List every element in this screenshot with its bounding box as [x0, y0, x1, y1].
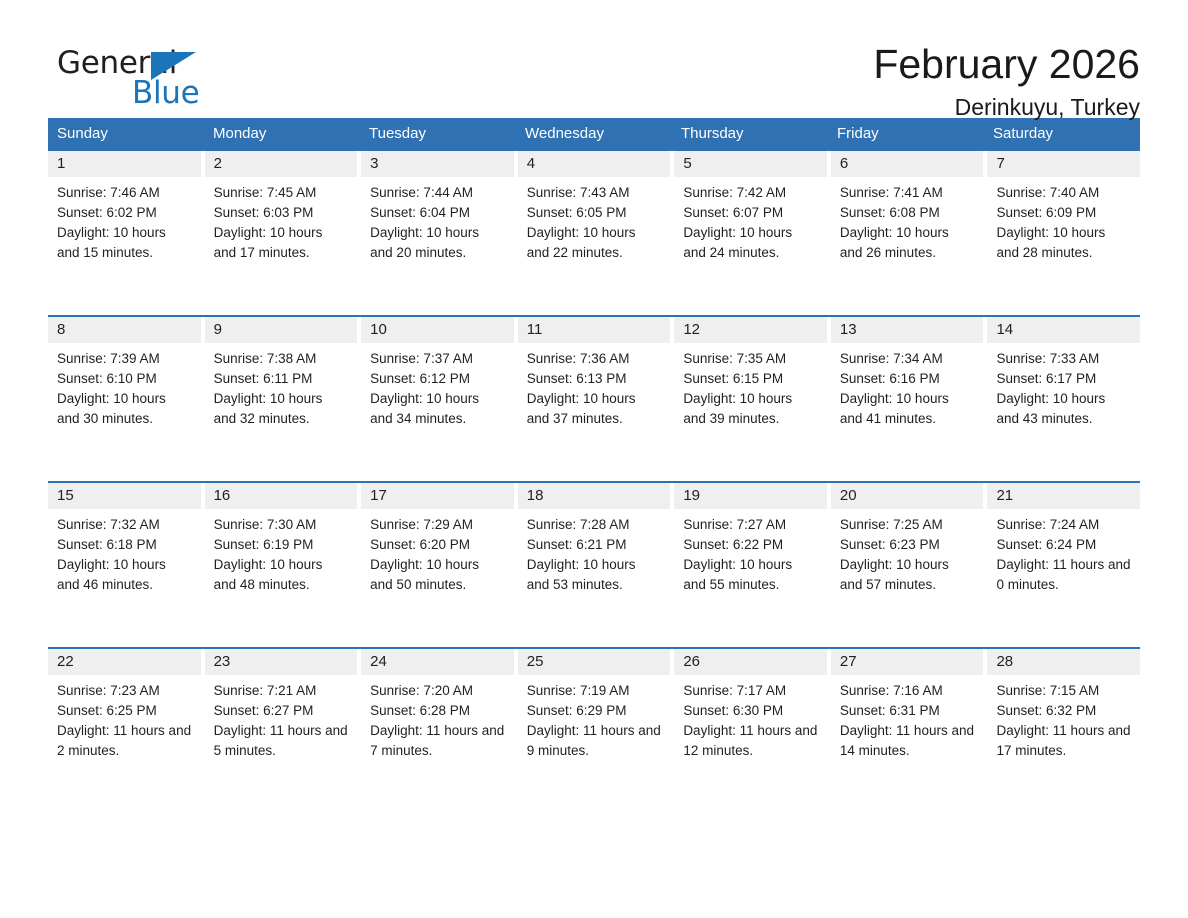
sunset-text: Sunset: 6:20 PM — [370, 535, 505, 555]
daylight-text: Daylight: 10 hours and 22 minutes. — [527, 223, 662, 263]
day-number-band: 9 — [205, 317, 358, 343]
daylight-text: Daylight: 10 hours and 57 minutes. — [840, 555, 975, 595]
day-cell[interactable]: 14 Sunrise: 7:33 AM Sunset: 6:17 PM Dayl… — [987, 317, 1140, 481]
day-info: Sunrise: 7:45 AM Sunset: 6:03 PM Dayligh… — [205, 177, 358, 263]
day-number-band: 24 — [361, 649, 514, 675]
daylight-text: Daylight: 10 hours and 55 minutes. — [683, 555, 818, 595]
day-cell[interactable]: 22 Sunrise: 7:23 AM Sunset: 6:25 PM Dayl… — [48, 649, 205, 813]
day-info: Sunrise: 7:24 AM Sunset: 6:24 PM Dayligh… — [987, 509, 1140, 595]
weekday-header-saturday: Saturday — [984, 118, 1140, 149]
day-cell[interactable]: 28 Sunrise: 7:15 AM Sunset: 6:32 PM Dayl… — [987, 649, 1140, 813]
day-number-band: 28 — [987, 649, 1140, 675]
sunset-text: Sunset: 6:09 PM — [996, 203, 1131, 223]
day-number: 22 — [57, 653, 74, 670]
day-number: 11 — [527, 321, 543, 338]
day-number-band: 2 — [205, 151, 358, 177]
sunset-text: Sunset: 6:15 PM — [683, 369, 818, 389]
day-number: 17 — [370, 487, 387, 504]
day-info: Sunrise: 7:29 AM Sunset: 6:20 PM Dayligh… — [361, 509, 514, 595]
daylight-text: Daylight: 10 hours and 43 minutes. — [996, 389, 1131, 429]
day-info: Sunrise: 7:35 AM Sunset: 6:15 PM Dayligh… — [674, 343, 827, 429]
day-number-band: 3 — [361, 151, 514, 177]
daylight-text: Daylight: 11 hours and 17 minutes. — [996, 721, 1131, 761]
sunrise-text: Sunrise: 7:30 AM — [214, 515, 349, 535]
sunrise-text: Sunrise: 7:40 AM — [996, 183, 1131, 203]
sunrise-text: Sunrise: 7:41 AM — [840, 183, 975, 203]
day-cell[interactable]: 25 Sunrise: 7:19 AM Sunset: 6:29 PM Dayl… — [518, 649, 675, 813]
sunrise-text: Sunrise: 7:17 AM — [683, 681, 818, 701]
day-cell[interactable]: 15 Sunrise: 7:32 AM Sunset: 6:18 PM Dayl… — [48, 483, 205, 647]
day-info: Sunrise: 7:19 AM Sunset: 6:29 PM Dayligh… — [518, 675, 671, 761]
brand-name-blue: Blue — [132, 78, 199, 109]
day-cell[interactable]: 9 Sunrise: 7:38 AM Sunset: 6:11 PM Dayli… — [205, 317, 362, 481]
day-info: Sunrise: 7:43 AM Sunset: 6:05 PM Dayligh… — [518, 177, 671, 263]
day-number: 14 — [996, 321, 1013, 338]
day-number: 3 — [370, 155, 378, 172]
sunrise-text: Sunrise: 7:25 AM — [840, 515, 975, 535]
sunset-text: Sunset: 6:19 PM — [214, 535, 349, 555]
weekday-header-friday: Friday — [828, 118, 984, 149]
day-cell[interactable]: 11 Sunrise: 7:36 AM Sunset: 6:13 PM Dayl… — [518, 317, 675, 481]
daylight-text: Daylight: 10 hours and 24 minutes. — [683, 223, 818, 263]
day-cell[interactable]: 19 Sunrise: 7:27 AM Sunset: 6:22 PM Dayl… — [674, 483, 831, 647]
sunset-text: Sunset: 6:08 PM — [840, 203, 975, 223]
sunrise-text: Sunrise: 7:32 AM — [57, 515, 192, 535]
day-info: Sunrise: 7:16 AM Sunset: 6:31 PM Dayligh… — [831, 675, 984, 761]
day-number: 19 — [683, 487, 700, 504]
sunset-text: Sunset: 6:27 PM — [214, 701, 349, 721]
sunrise-text: Sunrise: 7:33 AM — [996, 349, 1131, 369]
day-number-band: 26 — [674, 649, 827, 675]
day-number: 2 — [214, 155, 222, 172]
sunrise-text: Sunrise: 7:28 AM — [527, 515, 662, 535]
daylight-text: Daylight: 10 hours and 34 minutes. — [370, 389, 505, 429]
day-info: Sunrise: 7:15 AM Sunset: 6:32 PM Dayligh… — [987, 675, 1140, 761]
sunset-text: Sunset: 6:24 PM — [996, 535, 1131, 555]
day-number: 9 — [214, 321, 222, 338]
sunset-text: Sunset: 6:21 PM — [527, 535, 662, 555]
daylight-text: Daylight: 10 hours and 41 minutes. — [840, 389, 975, 429]
daylight-text: Daylight: 10 hours and 53 minutes. — [527, 555, 662, 595]
sunset-text: Sunset: 6:17 PM — [996, 369, 1131, 389]
sunset-text: Sunset: 6:29 PM — [527, 701, 662, 721]
daylight-text: Daylight: 10 hours and 20 minutes. — [370, 223, 505, 263]
sunset-text: Sunset: 6:22 PM — [683, 535, 818, 555]
calendar-page: General Blue February 2026 Derinkuyu, Tu… — [0, 0, 1188, 918]
day-number: 26 — [683, 653, 700, 670]
sunset-text: Sunset: 6:13 PM — [527, 369, 662, 389]
day-number: 13 — [840, 321, 857, 338]
day-cell[interactable]: 2 Sunrise: 7:45 AM Sunset: 6:03 PM Dayli… — [205, 151, 362, 315]
sunrise-text: Sunrise: 7:43 AM — [527, 183, 662, 203]
day-cell[interactable]: 6 Sunrise: 7:41 AM Sunset: 6:08 PM Dayli… — [831, 151, 988, 315]
day-cell[interactable]: 26 Sunrise: 7:17 AM Sunset: 6:30 PM Dayl… — [674, 649, 831, 813]
sunrise-text: Sunrise: 7:35 AM — [683, 349, 818, 369]
day-number: 27 — [840, 653, 857, 670]
day-cell[interactable]: 27 Sunrise: 7:16 AM Sunset: 6:31 PM Dayl… — [831, 649, 988, 813]
day-number: 28 — [996, 653, 1013, 670]
sunrise-text: Sunrise: 7:20 AM — [370, 681, 505, 701]
day-info: Sunrise: 7:40 AM Sunset: 6:09 PM Dayligh… — [987, 177, 1140, 263]
page-title: February 2026 — [873, 42, 1140, 86]
sunrise-text: Sunrise: 7:15 AM — [996, 681, 1131, 701]
day-info: Sunrise: 7:44 AM Sunset: 6:04 PM Dayligh… — [361, 177, 514, 263]
weekday-header-row: Sunday Monday Tuesday Wednesday Thursday… — [48, 118, 1140, 149]
daylight-text: Daylight: 10 hours and 30 minutes. — [57, 389, 192, 429]
weekday-header-monday: Monday — [204, 118, 360, 149]
day-number-band: 22 — [48, 649, 201, 675]
daylight-text: Daylight: 10 hours and 37 minutes. — [527, 389, 662, 429]
daylight-text: Daylight: 10 hours and 50 minutes. — [370, 555, 505, 595]
daylight-text: Daylight: 10 hours and 48 minutes. — [214, 555, 349, 595]
title-block: February 2026 Derinkuyu, Turkey — [873, 42, 1140, 122]
daylight-text: Daylight: 10 hours and 39 minutes. — [683, 389, 818, 429]
day-cell[interactable]: 16 Sunrise: 7:30 AM Sunset: 6:19 PM Dayl… — [205, 483, 362, 647]
day-info: Sunrise: 7:39 AM Sunset: 6:10 PM Dayligh… — [48, 343, 201, 429]
day-cell[interactable]: 24 Sunrise: 7:20 AM Sunset: 6:28 PM Dayl… — [361, 649, 518, 813]
day-cell[interactable]: 4 Sunrise: 7:43 AM Sunset: 6:05 PM Dayli… — [518, 151, 675, 315]
sunset-text: Sunset: 6:16 PM — [840, 369, 975, 389]
day-number: 7 — [996, 155, 1004, 172]
day-number-band: 12 — [674, 317, 827, 343]
daylight-text: Daylight: 11 hours and 9 minutes. — [527, 721, 662, 761]
day-number: 23 — [214, 653, 231, 670]
sunrise-text: Sunrise: 7:37 AM — [370, 349, 505, 369]
day-cell[interactable]: 7 Sunrise: 7:40 AM Sunset: 6:09 PM Dayli… — [987, 151, 1140, 315]
daylight-text: Daylight: 10 hours and 15 minutes. — [57, 223, 192, 263]
sunrise-text: Sunrise: 7:27 AM — [683, 515, 818, 535]
day-info: Sunrise: 7:32 AM Sunset: 6:18 PM Dayligh… — [48, 509, 201, 595]
day-info: Sunrise: 7:23 AM Sunset: 6:25 PM Dayligh… — [48, 675, 201, 761]
day-number: 10 — [370, 321, 387, 338]
sunset-text: Sunset: 6:02 PM — [57, 203, 192, 223]
day-number: 6 — [840, 155, 848, 172]
day-info: Sunrise: 7:37 AM Sunset: 6:12 PM Dayligh… — [361, 343, 514, 429]
day-info: Sunrise: 7:33 AM Sunset: 6:17 PM Dayligh… — [987, 343, 1140, 429]
day-number-band: 27 — [831, 649, 984, 675]
sunrise-text: Sunrise: 7:45 AM — [214, 183, 349, 203]
week-row: 22 Sunrise: 7:23 AM Sunset: 6:25 PM Dayl… — [48, 647, 1140, 813]
daylight-text: Daylight: 11 hours and 12 minutes. — [683, 721, 818, 761]
sunset-text: Sunset: 6:32 PM — [996, 701, 1131, 721]
sunrise-text: Sunrise: 7:29 AM — [370, 515, 505, 535]
day-number-band: 19 — [674, 483, 827, 509]
day-number-band: 16 — [205, 483, 358, 509]
day-number: 12 — [683, 321, 700, 338]
week-row: 8 Sunrise: 7:39 AM Sunset: 6:10 PM Dayli… — [48, 315, 1140, 481]
sunset-text: Sunset: 6:31 PM — [840, 701, 975, 721]
day-number-band: 10 — [361, 317, 514, 343]
day-number-band: 11 — [518, 317, 671, 343]
day-number-band: 17 — [361, 483, 514, 509]
generalblue-logo[interactable]: General Blue — [48, 42, 208, 114]
day-info: Sunrise: 7:36 AM Sunset: 6:13 PM Dayligh… — [518, 343, 671, 429]
daylight-text: Daylight: 11 hours and 5 minutes. — [214, 721, 349, 761]
day-cell[interactable]: 3 Sunrise: 7:44 AM Sunset: 6:04 PM Dayli… — [361, 151, 518, 315]
weekday-header-sunday: Sunday — [48, 118, 204, 149]
weekday-header-wednesday: Wednesday — [516, 118, 672, 149]
day-cell[interactable]: 8 Sunrise: 7:39 AM Sunset: 6:10 PM Dayli… — [48, 317, 205, 481]
sunrise-text: Sunrise: 7:39 AM — [57, 349, 192, 369]
page-header: General Blue February 2026 Derinkuyu, Tu… — [48, 0, 1140, 108]
day-cell[interactable]: 17 Sunrise: 7:29 AM Sunset: 6:20 PM Dayl… — [361, 483, 518, 647]
day-info: Sunrise: 7:21 AM Sunset: 6:27 PM Dayligh… — [205, 675, 358, 761]
day-info: Sunrise: 7:46 AM Sunset: 6:02 PM Dayligh… — [48, 177, 201, 263]
day-cell[interactable]: 20 Sunrise: 7:25 AM Sunset: 6:23 PM Dayl… — [831, 483, 988, 647]
day-number: 18 — [527, 487, 544, 504]
sunset-text: Sunset: 6:11 PM — [214, 369, 349, 389]
daylight-text: Daylight: 10 hours and 26 minutes. — [840, 223, 975, 263]
sunset-text: Sunset: 6:07 PM — [683, 203, 818, 223]
daylight-text: Daylight: 11 hours and 0 minutes. — [996, 555, 1131, 595]
day-info: Sunrise: 7:30 AM Sunset: 6:19 PM Dayligh… — [205, 509, 358, 595]
day-info: Sunrise: 7:20 AM Sunset: 6:28 PM Dayligh… — [361, 675, 514, 761]
daylight-text: Daylight: 10 hours and 32 minutes. — [214, 389, 349, 429]
day-number-band: 14 — [987, 317, 1140, 343]
day-number: 8 — [57, 321, 65, 338]
day-number-band: 1 — [48, 151, 201, 177]
day-cell[interactable]: 5 Sunrise: 7:42 AM Sunset: 6:07 PM Dayli… — [674, 151, 831, 315]
sunrise-text: Sunrise: 7:38 AM — [214, 349, 349, 369]
day-number-band: 18 — [518, 483, 671, 509]
sunrise-text: Sunrise: 7:34 AM — [840, 349, 975, 369]
daylight-text: Daylight: 10 hours and 17 minutes. — [214, 223, 349, 263]
day-info: Sunrise: 7:41 AM Sunset: 6:08 PM Dayligh… — [831, 177, 984, 263]
sunset-text: Sunset: 6:23 PM — [840, 535, 975, 555]
week-row: 1 Sunrise: 7:46 AM Sunset: 6:02 PM Dayli… — [48, 149, 1140, 315]
day-info: Sunrise: 7:28 AM Sunset: 6:21 PM Dayligh… — [518, 509, 671, 595]
sunset-text: Sunset: 6:18 PM — [57, 535, 192, 555]
week-row: 15 Sunrise: 7:32 AM Sunset: 6:18 PM Dayl… — [48, 481, 1140, 647]
day-number: 25 — [527, 653, 544, 670]
sunrise-text: Sunrise: 7:42 AM — [683, 183, 818, 203]
sunrise-text: Sunrise: 7:16 AM — [840, 681, 975, 701]
day-number-band: 13 — [831, 317, 984, 343]
sunrise-text: Sunrise: 7:21 AM — [214, 681, 349, 701]
calendar-grid: Sunday Monday Tuesday Wednesday Thursday… — [48, 118, 1140, 813]
daylight-text: Daylight: 10 hours and 46 minutes. — [57, 555, 192, 595]
sunset-text: Sunset: 6:25 PM — [57, 701, 192, 721]
sunset-text: Sunset: 6:04 PM — [370, 203, 505, 223]
sunset-text: Sunset: 6:03 PM — [214, 203, 349, 223]
day-cell[interactable]: 13 Sunrise: 7:34 AM Sunset: 6:16 PM Dayl… — [831, 317, 988, 481]
day-info: Sunrise: 7:25 AM Sunset: 6:23 PM Dayligh… — [831, 509, 984, 595]
day-number-band: 8 — [48, 317, 201, 343]
weekday-header-thursday: Thursday — [672, 118, 828, 149]
day-info: Sunrise: 7:34 AM Sunset: 6:16 PM Dayligh… — [831, 343, 984, 429]
day-cell[interactable]: 18 Sunrise: 7:28 AM Sunset: 6:21 PM Dayl… — [518, 483, 675, 647]
day-number-band: 25 — [518, 649, 671, 675]
day-number-band: 4 — [518, 151, 671, 177]
day-number-band: 15 — [48, 483, 201, 509]
day-number-band: 23 — [205, 649, 358, 675]
daylight-text: Daylight: 11 hours and 2 minutes. — [57, 721, 192, 761]
daylight-text: Daylight: 10 hours and 28 minutes. — [996, 223, 1131, 263]
sunrise-text: Sunrise: 7:19 AM — [527, 681, 662, 701]
day-number: 1 — [57, 155, 65, 172]
daylight-text: Daylight: 11 hours and 14 minutes. — [840, 721, 975, 761]
day-number-band: 6 — [831, 151, 984, 177]
day-number-band: 5 — [674, 151, 827, 177]
day-cell[interactable]: 12 Sunrise: 7:35 AM Sunset: 6:15 PM Dayl… — [674, 317, 831, 481]
day-number: 16 — [214, 487, 231, 504]
weekday-header-tuesday: Tuesday — [360, 118, 516, 149]
day-number: 20 — [840, 487, 857, 504]
sunset-text: Sunset: 6:28 PM — [370, 701, 505, 721]
day-cell[interactable]: 1 Sunrise: 7:46 AM Sunset: 6:02 PM Dayli… — [48, 151, 205, 315]
sunset-text: Sunset: 6:05 PM — [527, 203, 662, 223]
sunrise-text: Sunrise: 7:46 AM — [57, 183, 192, 203]
day-number-band: 20 — [831, 483, 984, 509]
daylight-text: Daylight: 11 hours and 7 minutes. — [370, 721, 505, 761]
day-cell[interactable]: 23 Sunrise: 7:21 AM Sunset: 6:27 PM Dayl… — [205, 649, 362, 813]
day-number: 24 — [370, 653, 387, 670]
day-info: Sunrise: 7:27 AM Sunset: 6:22 PM Dayligh… — [674, 509, 827, 595]
day-number-band: 21 — [987, 483, 1140, 509]
day-number: 5 — [683, 155, 691, 172]
sunset-text: Sunset: 6:10 PM — [57, 369, 192, 389]
day-number: 21 — [996, 487, 1013, 504]
sunrise-text: Sunrise: 7:44 AM — [370, 183, 505, 203]
sunrise-text: Sunrise: 7:23 AM — [57, 681, 192, 701]
day-info: Sunrise: 7:38 AM Sunset: 6:11 PM Dayligh… — [205, 343, 358, 429]
day-number-band: 7 — [987, 151, 1140, 177]
day-info: Sunrise: 7:17 AM Sunset: 6:30 PM Dayligh… — [674, 675, 827, 761]
day-number: 4 — [527, 155, 535, 172]
sunset-text: Sunset: 6:12 PM — [370, 369, 505, 389]
sunrise-text: Sunrise: 7:24 AM — [996, 515, 1131, 535]
day-cell[interactable]: 21 Sunrise: 7:24 AM Sunset: 6:24 PM Dayl… — [987, 483, 1140, 647]
day-info: Sunrise: 7:42 AM Sunset: 6:07 PM Dayligh… — [674, 177, 827, 263]
sunrise-text: Sunrise: 7:36 AM — [527, 349, 662, 369]
day-cell[interactable]: 10 Sunrise: 7:37 AM Sunset: 6:12 PM Dayl… — [361, 317, 518, 481]
sunset-text: Sunset: 6:30 PM — [683, 701, 818, 721]
day-number: 15 — [57, 487, 74, 504]
